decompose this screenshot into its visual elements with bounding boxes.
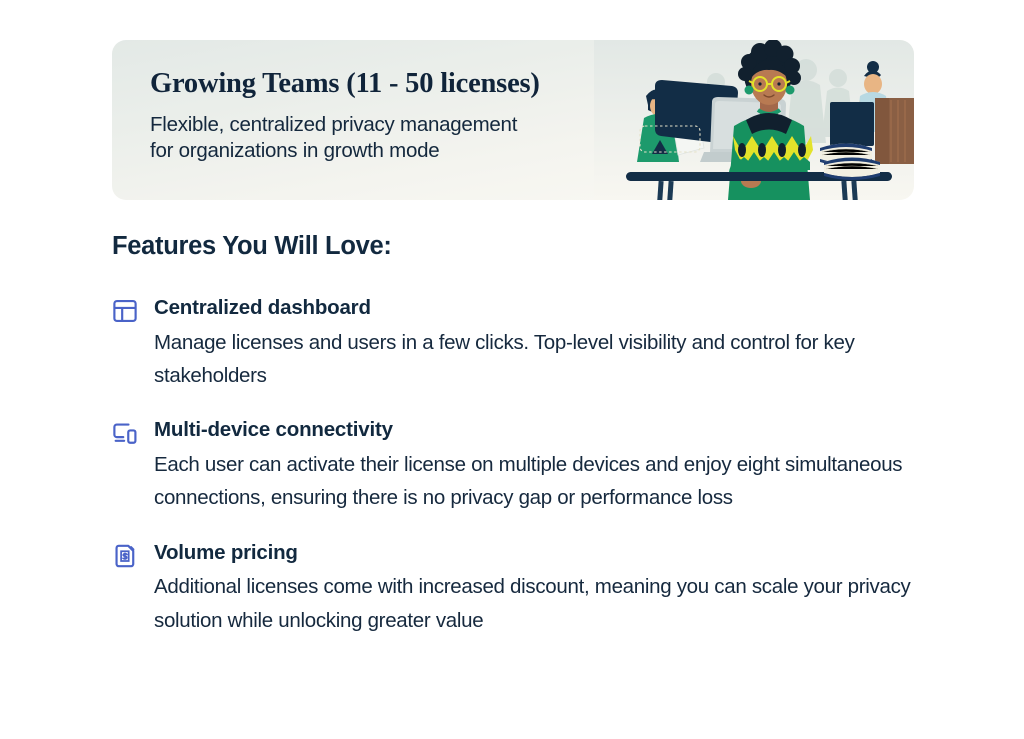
hero-title: Growing Teams (11 - 50 licenses)	[150, 68, 670, 101]
price-tag-dollar-icon	[112, 543, 138, 569]
feature-title: Centralized dashboard	[154, 296, 924, 321]
dashboard-icon	[112, 298, 138, 324]
hero-text-block: Growing Teams (11 - 50 licenses) Flexibl…	[150, 68, 670, 163]
feature-item-volume-pricing: Volume pricing Additional licenses come …	[112, 541, 924, 637]
feature-description: Each user can activate their license on …	[154, 448, 924, 515]
hero-subtitle-line-1: Flexible, centralized privacy management	[150, 112, 670, 138]
features-heading: Features You Will Love:	[112, 232, 392, 261]
hero-subtitle: Flexible, centralized privacy management…	[150, 112, 670, 164]
feature-list: Centralized dashboard Manage licenses an…	[112, 296, 924, 663]
page-root: Growing Teams (11 - 50 licenses) Flexibl…	[0, 0, 1024, 739]
multi-device-icon	[112, 420, 138, 446]
hero-subtitle-line-2: for organizations in growth mode	[150, 138, 670, 164]
feature-item-centralized-dashboard: Centralized dashboard Manage licenses an…	[112, 296, 924, 392]
hero-card: Growing Teams (11 - 50 licenses) Flexibl…	[112, 40, 914, 200]
feature-description: Additional licenses come with increased …	[154, 570, 924, 637]
feature-description: Manage licenses and users in a few click…	[154, 326, 924, 393]
feature-title: Multi-device connectivity	[154, 418, 924, 443]
feature-item-multi-device-connectivity: Multi-device connectivity Each user can …	[112, 418, 924, 514]
feature-title: Volume pricing	[154, 541, 924, 566]
